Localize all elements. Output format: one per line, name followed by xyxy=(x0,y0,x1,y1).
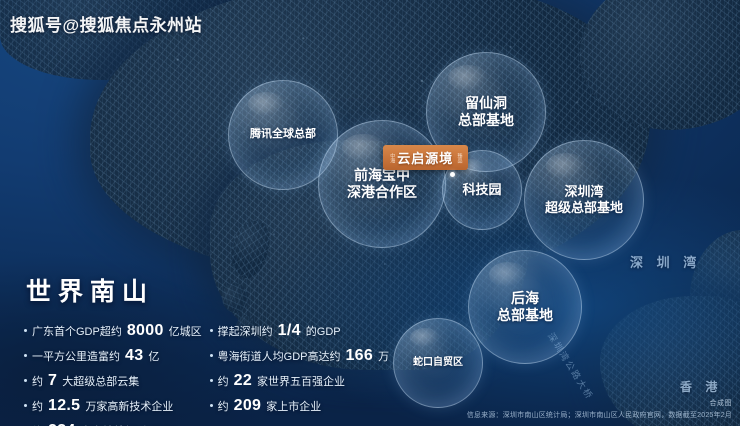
source-attribution: 信息来源：深圳市南山区统计局；深圳市南山区人民政府官网，数据截至2025年2月 xyxy=(467,410,732,420)
bullet-number: 22 xyxy=(234,372,252,390)
bullet-number: 12.5 xyxy=(48,397,80,415)
bubble-label: 蛇口自贸区 xyxy=(407,357,469,370)
bubble-qianhai-baozhong[interactable]: 前海宝中 深港合作区 xyxy=(318,120,446,248)
info-panel: 世界南山 广东首个GDP超约 8000 亿城区 一平方公里造富约 43 亿 约 xyxy=(24,272,354,426)
bullet-item: 广东首个GDP超约 8000 亿城区 xyxy=(24,322,202,340)
badge-location-dot xyxy=(450,172,455,177)
bullet-dot-icon xyxy=(24,329,27,332)
bullet-item: 约 12.5 万家高新技术企业 xyxy=(24,397,202,415)
bullet-dot-icon xyxy=(210,354,213,357)
bullet-item: 约 7 大超级总部云集 xyxy=(24,372,202,390)
bubble-label: 后海 总部基地 xyxy=(491,290,559,325)
bubble-label-line2: 超级总部基地 xyxy=(545,200,623,215)
bubble-label: 科技园 xyxy=(456,182,507,198)
bubble-label-line1: 深圳湾 xyxy=(564,184,603,199)
bubble-shekou-ftz[interactable]: 蛇口自贸区 xyxy=(393,318,483,408)
bullet-number: 8000 xyxy=(127,322,164,340)
bullet-post: 亿 xyxy=(148,348,159,364)
bubble-houhai-hq[interactable]: 后海 总部基地 xyxy=(468,250,582,364)
bullet-item: 约 209 家上市企业 xyxy=(210,397,360,415)
bullet-pre: 粤海街道人均GDP高达约 xyxy=(218,348,341,364)
bubble-label-line1: 后海 xyxy=(511,290,539,306)
infographic-poster: 深 圳 湾 香 港 深圳湾公路大桥 腾讯全球总部 前海宝中 深港合作区 留仙洞 … xyxy=(0,0,740,426)
watermark-sohu: 搜狐号@搜狐焦点永州站 xyxy=(10,11,202,36)
bubble-label: 前海宝中 深港合作区 xyxy=(341,167,423,202)
bullet-post: 大超级总部云集 xyxy=(62,373,139,389)
place-label-hong-kong: 香 港 xyxy=(680,378,722,395)
bullet-post: 的GDP xyxy=(306,323,341,339)
bullet-pre: 约 xyxy=(32,373,43,389)
bullet-post: 亿城区 xyxy=(169,323,202,339)
bubble-label: 腾讯全球总部 xyxy=(244,128,322,142)
bubble-shenzhenwan-hq[interactable]: 深圳湾 超级总部基地 xyxy=(524,140,644,260)
bubble-label: 留仙洞 总部基地 xyxy=(452,95,520,130)
bullet-post: 万家高新技术企业 xyxy=(85,398,173,414)
bullet-dot-icon xyxy=(210,404,213,407)
bullet-column-left: 广东首个GDP超约 8000 亿城区 一平方公里造富约 43 亿 约 7 大超级… xyxy=(24,322,202,426)
bullet-pre: 广东首个GDP超约 xyxy=(32,323,122,339)
bullet-dot-icon xyxy=(24,404,27,407)
bullet-dot-icon xyxy=(24,379,27,382)
bullet-dot-icon xyxy=(24,354,27,357)
bullet-number: 1/4 xyxy=(278,322,301,340)
bullet-item: 约 22 家世界五百强企业 xyxy=(210,372,360,390)
bullet-item: 约 234 家专精特新“小巨人” xyxy=(24,422,202,426)
highlight-badge-yunqiyuanjing[interactable]: 中海 云启源境 臻品 xyxy=(383,145,468,170)
bullet-column-right: 撑起深圳约 1/4 的GDP 粤海街道人均GDP高达约 166 万 约 22 家… xyxy=(210,322,360,426)
bullet-number: 7 xyxy=(48,372,57,390)
bullet-post: 家上市企业 xyxy=(266,398,321,414)
bullet-dot-icon xyxy=(210,379,213,382)
bullet-post: 万 xyxy=(378,348,389,364)
bullet-number: 209 xyxy=(234,397,262,415)
bullet-item: 撑起深圳约 1/4 的GDP xyxy=(210,322,360,340)
bubble-label-line2: 深港合作区 xyxy=(347,184,417,200)
bullet-pre: 约 xyxy=(218,398,229,414)
bullet-pre: 约 xyxy=(32,398,43,414)
place-label-shenzhen-bay: 深 圳 湾 xyxy=(630,252,701,271)
bubble-label: 深圳湾 超级总部基地 xyxy=(539,184,629,217)
panel-title: 世界南山 xyxy=(26,272,354,308)
bullet-number: 166 xyxy=(345,347,373,365)
bullet-pre: 一平方公里造富约 xyxy=(32,348,120,364)
badge-side-right-text: 臻品 xyxy=(456,153,461,163)
bullet-dot-icon xyxy=(210,329,213,332)
bullet-columns: 广东首个GDP超约 8000 亿城区 一平方公里造富约 43 亿 约 7 大超级… xyxy=(24,322,354,426)
badge-side-left-text: 中海 xyxy=(389,153,394,163)
bubble-label-line1: 留仙洞 xyxy=(465,95,507,111)
bullet-number: 234 xyxy=(48,422,76,426)
synthetic-image-note: 合成图 xyxy=(710,398,733,408)
badge-main-text: 云启源境 xyxy=(397,148,453,167)
bubble-label-line2: 总部基地 xyxy=(458,112,514,128)
bullet-pre: 约 xyxy=(218,373,229,389)
bubble-label-line2: 总部基地 xyxy=(497,307,553,323)
bullet-item: 粤海街道人均GDP高达约 166 万 xyxy=(210,347,360,365)
bullet-item: 一平方公里造富约 43 亿 xyxy=(24,347,202,365)
bullet-post: 家世界五百强企业 xyxy=(257,373,345,389)
bullet-number: 43 xyxy=(125,347,143,365)
bullet-pre: 撑起深圳约 xyxy=(218,323,273,339)
